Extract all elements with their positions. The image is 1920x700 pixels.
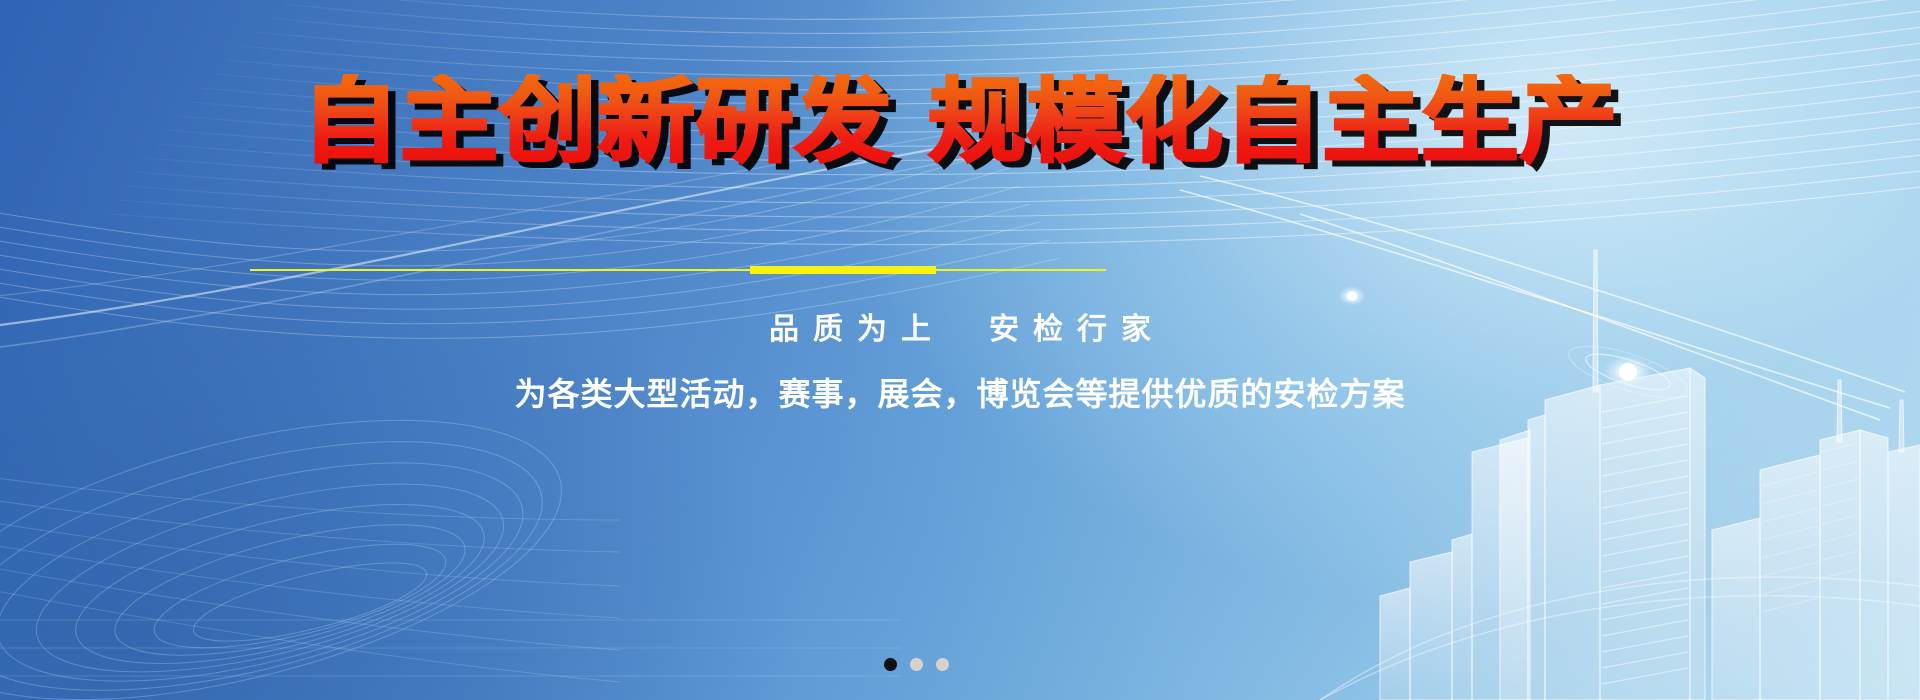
subtitle-secondary: 为各类大型活动，赛事，展会，博览会等提供优质的安检方案 — [0, 374, 1920, 414]
carousel-pagination[interactable] — [884, 658, 949, 671]
banner-headline: 自主创新研发 规模化自主生产 — [302, 74, 1619, 171]
divider-accent-block — [750, 266, 936, 274]
subtitle-container: 品质为上 安检行家 为各类大型活动，赛事，展会，博览会等提供优质的安检方案 — [0, 312, 1920, 414]
carousel-dot-2[interactable] — [910, 658, 923, 671]
subtitle-primary: 品质为上 安检行家 — [0, 312, 1920, 348]
carousel-dot-3[interactable] — [936, 658, 949, 671]
carousel-dot-1[interactable] — [884, 658, 897, 671]
hero-banner: 自主创新研发 规模化自主生产 品质为上 安检行家 为各类大型活动，赛事，展会，博… — [0, 0, 1920, 700]
headline-container: 自主创新研发 规模化自主生产 — [0, 74, 1920, 171]
yellow-divider — [250, 266, 1106, 274]
divider-hairline — [250, 269, 1106, 271]
